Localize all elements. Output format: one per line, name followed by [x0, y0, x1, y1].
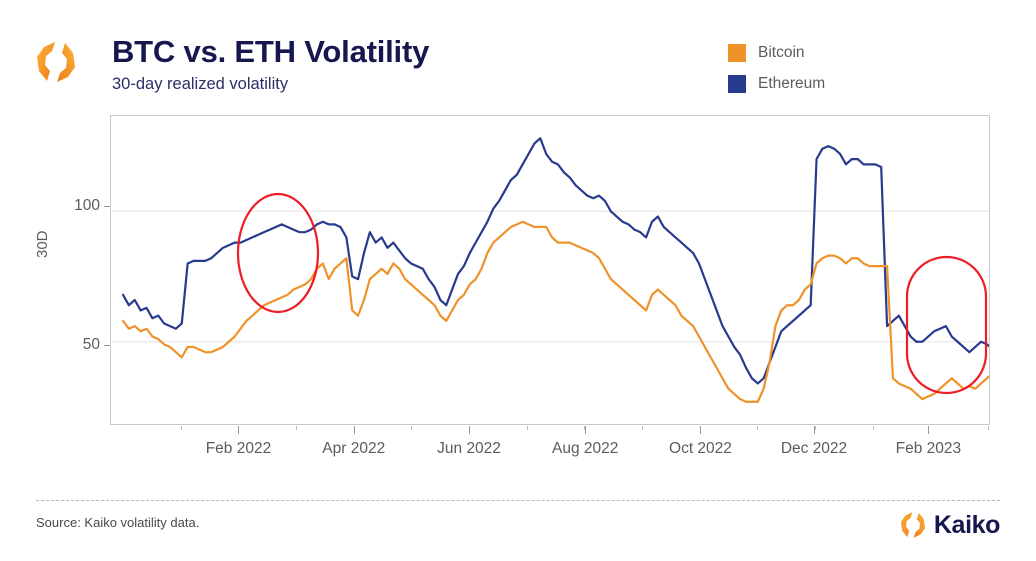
x-tick-label: Oct 2022	[669, 440, 732, 458]
y-tick-label-100: 100	[56, 197, 100, 215]
plot-svg	[111, 116, 989, 424]
x-tick-minor	[296, 426, 297, 430]
footer-divider	[36, 500, 1000, 501]
legend-label-bitcoin: Bitcoin	[758, 44, 805, 62]
x-tick-major	[700, 426, 701, 434]
x-axis-ticks	[110, 426, 990, 438]
x-tick-label: Feb 2022	[206, 440, 272, 458]
x-tick-label: Aug 2022	[552, 440, 618, 458]
gridlines	[111, 211, 989, 341]
x-tick-major	[354, 426, 355, 434]
source-note: Source: Kaiko volatility data.	[36, 515, 199, 530]
x-tick-minor	[527, 426, 528, 430]
legend-label-ethereum: Ethereum	[758, 75, 825, 93]
legend-item-ethereum[interactable]: Ethereum	[728, 71, 825, 97]
legend-swatch-icon	[728, 75, 746, 93]
title-block: BTC vs. ETH Volatility 30-day realized v…	[112, 34, 429, 95]
chart-header: BTC vs. ETH Volatility 30-day realized v…	[0, 0, 1036, 110]
highlight-early-2023	[907, 257, 986, 393]
x-tick-minor	[815, 426, 816, 430]
x-tick-minor	[181, 426, 182, 430]
x-tick-minor	[757, 426, 758, 430]
x-tick-major	[928, 426, 929, 434]
series-line-bitcoin	[123, 222, 989, 402]
footer-brand-name: Kaiko	[934, 511, 1000, 539]
x-tick-label: Apr 2022	[322, 440, 385, 458]
y-tick-label-50: 50	[56, 336, 100, 354]
page-subtitle: 30-day realized volatility	[112, 73, 429, 95]
series-lines	[123, 138, 989, 401]
chart-legend: Bitcoin Ethereum	[728, 40, 825, 102]
x-tick-major	[238, 426, 239, 434]
x-tick-minor	[988, 426, 989, 430]
page-title: BTC vs. ETH Volatility	[112, 34, 429, 70]
kaiko-bracket-logo-icon	[900, 511, 926, 539]
x-tick-label: Feb 2023	[896, 440, 962, 458]
x-tick-minor	[642, 426, 643, 430]
y-axis-title: 30D	[34, 230, 51, 258]
x-tick-label: Jun 2022	[437, 440, 501, 458]
x-tick-minor	[584, 426, 585, 430]
x-tick-label: Dec 2022	[781, 440, 847, 458]
legend-item-bitcoin[interactable]: Bitcoin	[728, 40, 825, 66]
legend-swatch-icon	[728, 44, 746, 62]
footer-brand: Kaiko	[900, 510, 1000, 540]
x-tick-minor	[411, 426, 412, 430]
plot-area	[110, 115, 990, 425]
x-tick-major	[469, 426, 470, 434]
x-tick-major	[585, 426, 586, 434]
kaiko-bracket-logo-icon	[36, 40, 76, 84]
x-tick-minor	[873, 426, 874, 430]
